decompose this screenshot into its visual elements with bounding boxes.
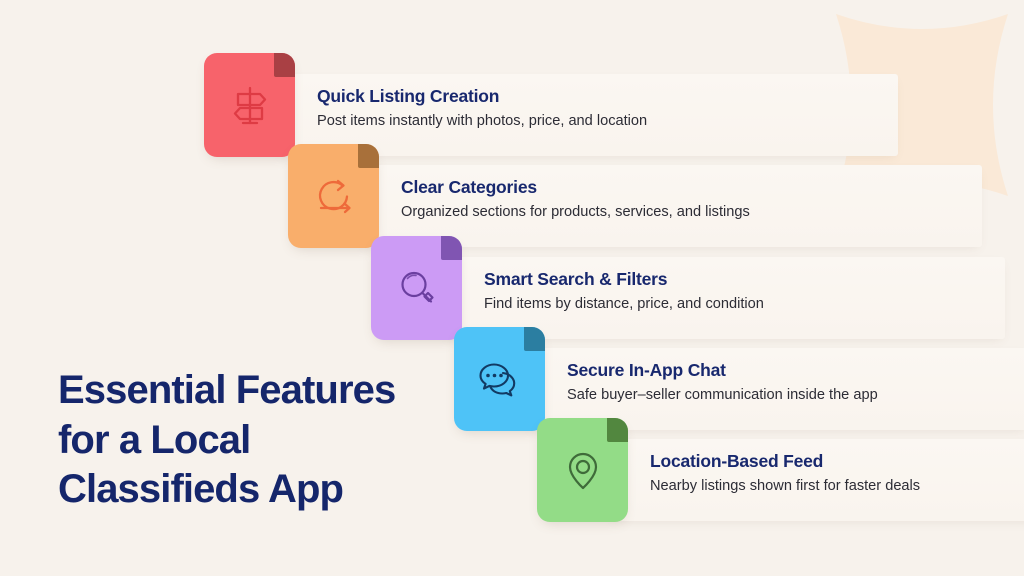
feature-title-3: Smart Search & Filters — [484, 269, 764, 291]
card-corner-fold — [358, 144, 379, 168]
feature-card-2[interactable] — [288, 144, 379, 248]
feature-title-5: Location-Based Feed — [650, 451, 920, 473]
feature-desc-5: Nearby listings shown first for faster d… — [650, 477, 920, 496]
feature-desc-2: Organized sections for products, service… — [401, 203, 750, 222]
map-pin-icon — [557, 444, 609, 496]
infographic-canvas: Quick Listing Creation Post items instan… — [0, 0, 1024, 576]
card-corner-fold — [607, 418, 628, 442]
feature-desc-3: Find items by distance, price, and condi… — [484, 295, 764, 314]
feature-desc-4: Safe buyer–seller communication inside t… — [567, 386, 878, 405]
feature-card-3[interactable] — [371, 236, 462, 340]
feature-title-2: Clear Categories — [401, 177, 750, 199]
page-title-line-2: for a Local — [58, 416, 395, 466]
feature-card-4[interactable] — [454, 327, 545, 431]
page-title-line-3: Classifieds App — [58, 465, 395, 515]
feature-text-5: Location-Based Feed Nearby listings show… — [650, 451, 920, 496]
page-title-line-1: Essential Features — [58, 366, 395, 416]
card-corner-fold — [441, 236, 462, 260]
feature-title-1: Quick Listing Creation — [317, 86, 647, 108]
feature-text-2: Clear Categories Organized sections for … — [401, 177, 750, 222]
signpost-icon — [224, 79, 276, 131]
feature-text-1: Quick Listing Creation Post items instan… — [317, 86, 647, 131]
chat-bubbles-icon — [473, 352, 527, 406]
card-corner-fold — [274, 53, 295, 77]
feature-title-4: Secure In-App Chat — [567, 360, 878, 382]
feature-text-4: Secure In-App Chat Safe buyer–seller com… — [567, 360, 878, 405]
feature-card-1[interactable] — [204, 53, 295, 157]
page-title: Essential Features for a Local Classifie… — [58, 366, 395, 515]
magnifier-icon — [391, 262, 443, 314]
refresh-cycle-icon — [308, 170, 360, 222]
feature-desc-1: Post items instantly with photos, price,… — [317, 112, 647, 131]
feature-text-3: Smart Search & Filters Find items by dis… — [484, 269, 764, 314]
feature-card-5[interactable] — [537, 418, 628, 522]
card-corner-fold — [524, 327, 545, 351]
